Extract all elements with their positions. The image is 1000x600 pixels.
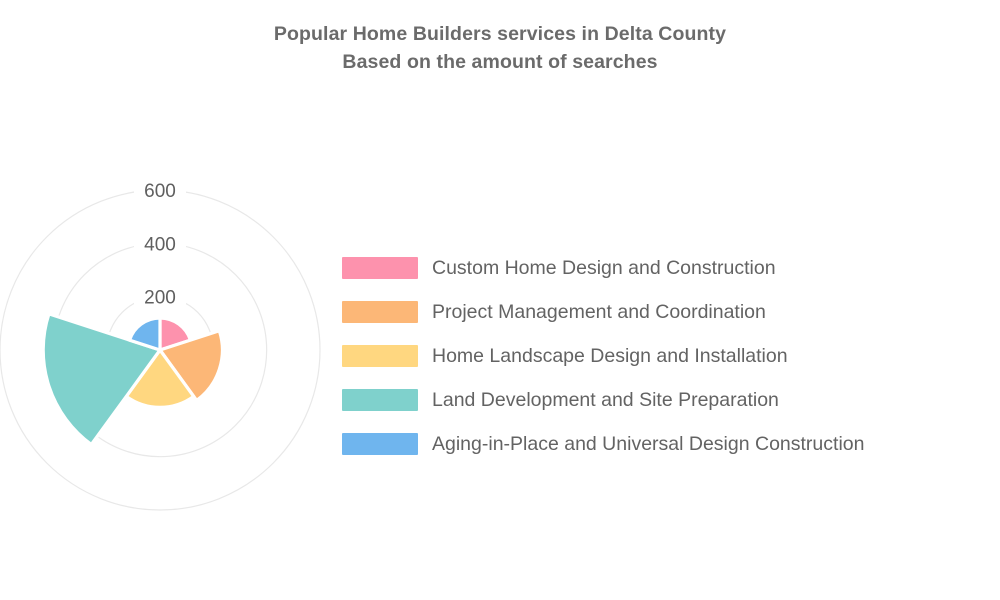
polar-wedges: Custom Home Design and Construction: 120… [43,314,222,445]
radial-tick-label-200: 200 [144,288,176,309]
legend-swatch-5 [342,433,418,455]
legend-item-2[interactable]: Project Management and Coordination [342,290,992,334]
legend-swatch-1 [342,257,418,279]
legend-item-5[interactable]: Aging-in-Place and Universal Design Cons… [342,422,992,466]
radial-tick-labels: 200400600 [134,180,186,309]
legend-label-1: Custom Home Design and Construction [432,257,776,280]
legend-label-5: Aging-in-Place and Universal Design Cons… [432,433,864,456]
legend-swatch-2 [342,301,418,323]
legend-label-3: Home Landscape Design and Installation [432,345,788,368]
legend-item-3[interactable]: Home Landscape Design and Installation [342,334,992,378]
chart-legend: Custom Home Design and ConstructionProje… [342,246,992,466]
radial-tick-label-400: 400 [144,234,176,255]
radial-tick-label-600: 600 [144,181,176,202]
legend-label-4: Land Development and Site Preparation [432,389,779,412]
legend-label-2: Project Management and Coordination [432,301,766,324]
legend-swatch-4 [342,389,418,411]
legend-item-1[interactable]: Custom Home Design and Construction [342,246,992,290]
legend-swatch-3 [342,345,418,367]
polar-area-chart: Popular Home Builders services in Delta … [0,0,1000,600]
legend-item-4[interactable]: Land Development and Site Preparation [342,378,992,422]
